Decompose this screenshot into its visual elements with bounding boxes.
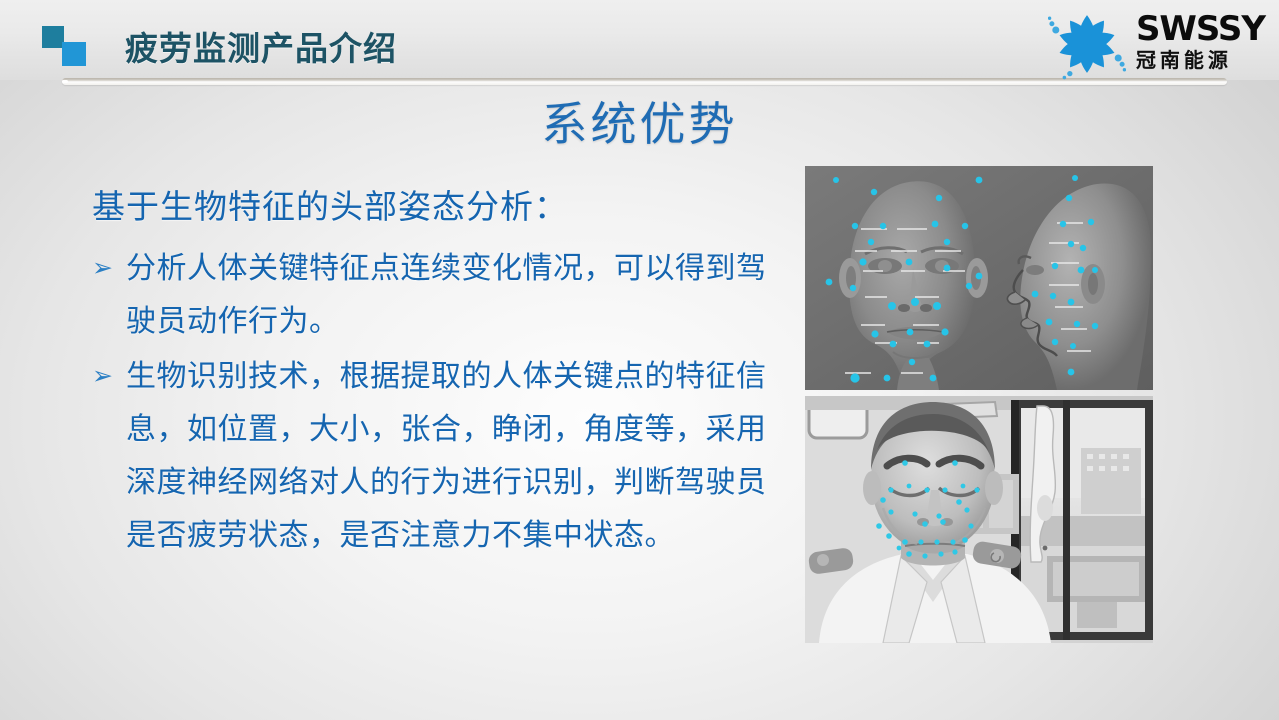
company-logo: SWSSY 冠南能源 — [1048, 4, 1265, 78]
slide-header: 疲劳监测产品介绍 — [0, 0, 1279, 80]
logo-wordmark: SWSSY 冠南能源 — [1136, 12, 1265, 71]
bullet-text: 分析人体关键特征点连续变化情况，可以得到驾驶员动作行为。 — [126, 242, 782, 348]
logo-name: SWSSY — [1136, 12, 1265, 46]
slide-title: 系统优势 — [0, 88, 1279, 154]
header-square-light-icon — [62, 42, 86, 66]
slide-root: 疲劳监测产品介绍 — [0, 0, 1279, 720]
3d-head-landmark-diagram — [805, 166, 1153, 390]
bullet-text: 生物识别技术，根据提取的人体关键点的特征信息，如位置，大小，张合，睁闭，角度等，… — [126, 350, 782, 562]
bullet-arrow-icon: ➢ — [92, 242, 126, 295]
header-square-dark-icon — [42, 26, 64, 48]
logo-subtitle: 冠南能源 — [1136, 51, 1265, 71]
bullet-list: ➢ 分析人体关键特征点连续变化情况，可以得到驾驶员动作行为。 ➢ 生物识别技术，… — [92, 242, 782, 562]
water-drop-burst-icon — [1048, 5, 1126, 77]
list-item: ➢ 生物识别技术，根据提取的人体关键点的特征信息，如位置，大小，张合，睁闭，角度… — [92, 350, 782, 562]
driver-fatigue-photo — [805, 396, 1153, 643]
header-title: 疲劳监测产品介绍 — [125, 22, 397, 70]
slide-body: 基于生物特征的头部姿态分析： ➢ 分析人体关键特征点连续变化情况，可以得到驾驶员… — [92, 188, 782, 564]
body-lead-text: 基于生物特征的头部姿态分析： — [92, 188, 782, 226]
bullet-arrow-icon: ➢ — [92, 350, 126, 403]
list-item: ➢ 分析人体关键特征点连续变化情况，可以得到驾驶员动作行为。 — [92, 242, 782, 348]
